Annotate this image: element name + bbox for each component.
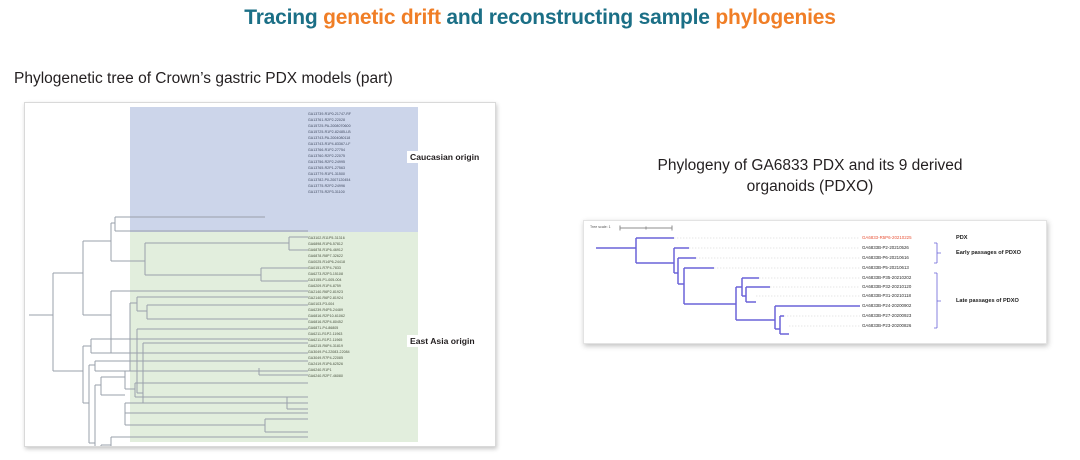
leaf-label-early: GA6833B-P6-20210616 (862, 255, 909, 261)
title-part-1: Tracing (244, 6, 323, 29)
page-title: Tracing genetic drift and reconstructing… (0, 6, 1080, 30)
group-label-pdx: PDX (956, 235, 968, 241)
group-label-late-passages: Late passages of PDXO (956, 298, 1019, 304)
leaf-label-late: GA6833B-P27-20200923 (862, 313, 911, 319)
right-panel: Phylogeny of GA6833 PDX and its 9 derive… (540, 60, 1080, 460)
right-subtitle-line1: Phylogeny of GA6833 PDX and its 9 derive… (657, 157, 962, 174)
leaf-label-late: GA6833B-P31-20210118 (862, 293, 911, 299)
right-tree-branches (584, 221, 1046, 343)
leaf-label: GA13775-R2P3-31100 (308, 189, 351, 195)
leaf-label-late: GA6833B-P23-20200826 (862, 323, 911, 329)
east-asia-leaf-labels: GA3102-R11P5-31316 GA6898-R1P6-57812 GA6… (308, 235, 350, 379)
pdxo-phylogeny-figure: Tree scale: 1 (583, 220, 1047, 344)
clade-label-east-asia: East Asia origin (407, 335, 478, 347)
clade-label-caucasian: Caucasian origin (407, 151, 482, 163)
leaf-label-late: GA6833B-P35-20210202 (862, 275, 911, 281)
leaf-label: GA6240-R2P7-46080 (308, 373, 350, 379)
caucasian-leaf-labels: GA13739-R1P0-21747-RF GA13761-R2P2-22028… (308, 111, 351, 195)
left-panel: Phylogenetic tree of Crown’s gastric PDX… (0, 60, 540, 460)
phylogenetic-tree-figure: GA13739-R1P0-21747-RF GA13761-R2P2-22028… (24, 102, 496, 447)
group-label-early-passages: Early passages of PDXO (956, 250, 1021, 256)
leaf-label-early: GA6833B-P5-20210613 (862, 265, 909, 271)
leaf-label-pdx: GA6833-R5P6-20210225 (862, 235, 912, 241)
leaf-label-late: GA6833B-P24-20200902 (862, 303, 911, 309)
left-panel-subtitle: Phylogenetic tree of Crown’s gastric PDX… (14, 70, 393, 88)
leaf-label-early: GA6833B-P2-20210526 (862, 245, 909, 251)
right-subtitle-line2: organoids (PDXO) (747, 178, 874, 195)
leaf-label-late: GA6833B-P32-20210120 (862, 284, 911, 290)
title-part-4: phylogenies (715, 6, 835, 29)
title-part-3: and reconstructing sample (441, 6, 716, 29)
right-panel-subtitle: Phylogeny of GA6833 PDX and its 9 derive… (600, 155, 1020, 197)
title-part-2: genetic drift (323, 6, 441, 29)
